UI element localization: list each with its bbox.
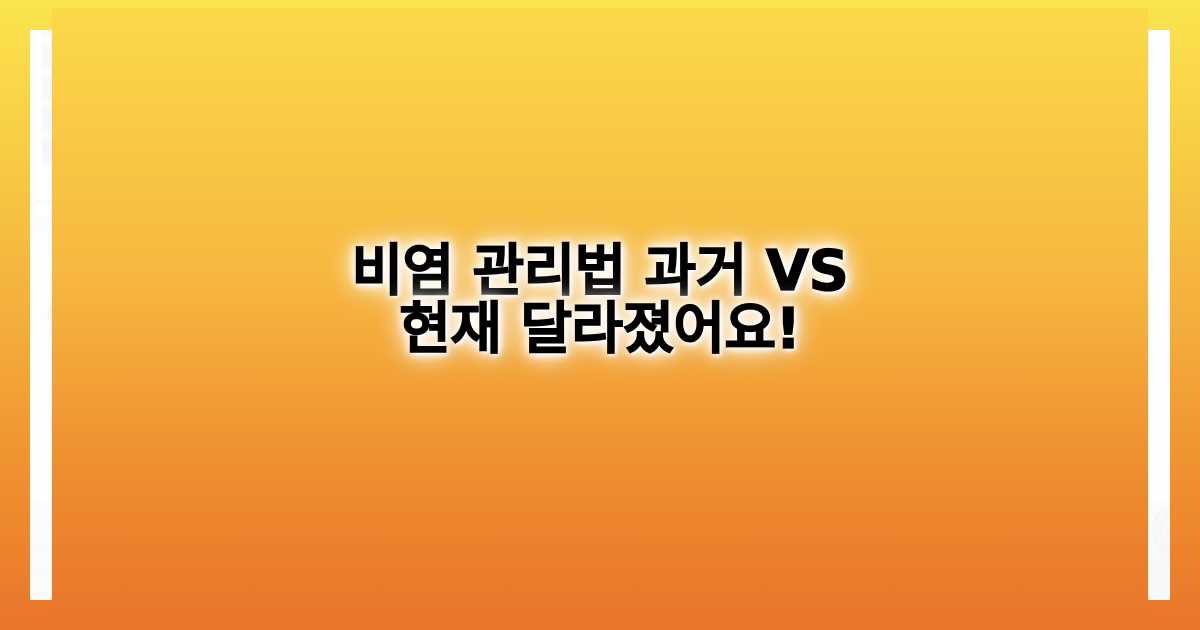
tv-movie-meta: 58% 17+ 2 hr 29 min Drama 2014 HD CC (541, 212, 675, 220)
cable (561, 500, 701, 518)
tv-movie-description: Directed by David Fincher and based on G… (541, 234, 723, 267)
tv-stand-neck (562, 398, 638, 420)
tv-movie-title: GONE GIRL (507, 167, 681, 192)
tv-poster-thumbnail (675, 313, 705, 357)
tv-screen: GONE GIRL DIRECTOR STARRING 58% 17+ 2 hr… (439, 144, 863, 395)
plant-pot (143, 458, 255, 558)
tv-poster-thumbnail: BIG EYES (601, 314, 631, 358)
console-plinth (370, 533, 898, 575)
potted-plant (55, 200, 345, 560)
television: GONE GIRL DIRECTOR STARRING 58% 17+ 2 hr… (434, 139, 868, 400)
streaming-box (594, 465, 605, 476)
background-photo: GONE GIRL DIRECTOR STARRING 58% 17+ 2 hr… (30, 30, 1170, 600)
tv-poster-thumbnail: ROUND (453, 315, 483, 359)
tv-poster-thumbnail (712, 313, 742, 357)
tv-starring-label: STARRING (486, 245, 537, 251)
tower-speaker (935, 458, 973, 568)
tv-poster-row: ROUNDThe JaunteBIG EYESI'LL HAVE ITVINCE… (453, 312, 863, 358)
tv-poster-thumbnail (786, 313, 816, 357)
console-shelf (553, 478, 713, 487)
tv-poster-thumbnail: VINCENT (749, 313, 779, 357)
tv-poster-thumbnail (564, 314, 594, 358)
tv-poster-thumbnail: The Jaunte (490, 314, 520, 358)
poster-canvas: GONE GIRL DIRECTOR STARRING 58% 17+ 2 hr… (0, 0, 1200, 630)
tv-director-label: DIRECTOR (486, 213, 537, 219)
tv-remote (574, 454, 586, 476)
laptop-device (610, 454, 699, 477)
wall-art-frame (34, 30, 110, 218)
wall-art-signature (54, 172, 88, 176)
console-open-compartment (553, 426, 713, 530)
tv-poster-thumbnail (527, 314, 557, 358)
tv-available-on: Available On (541, 287, 575, 293)
chair-base (1148, 550, 1170, 600)
tv-poster-thumbnail: I'LL HAVE IT (638, 314, 668, 358)
console-plinth-lip (382, 533, 886, 538)
media-console (363, 418, 903, 543)
console-top-surface (363, 418, 903, 425)
wall-art-stripes (42, 30, 102, 165)
